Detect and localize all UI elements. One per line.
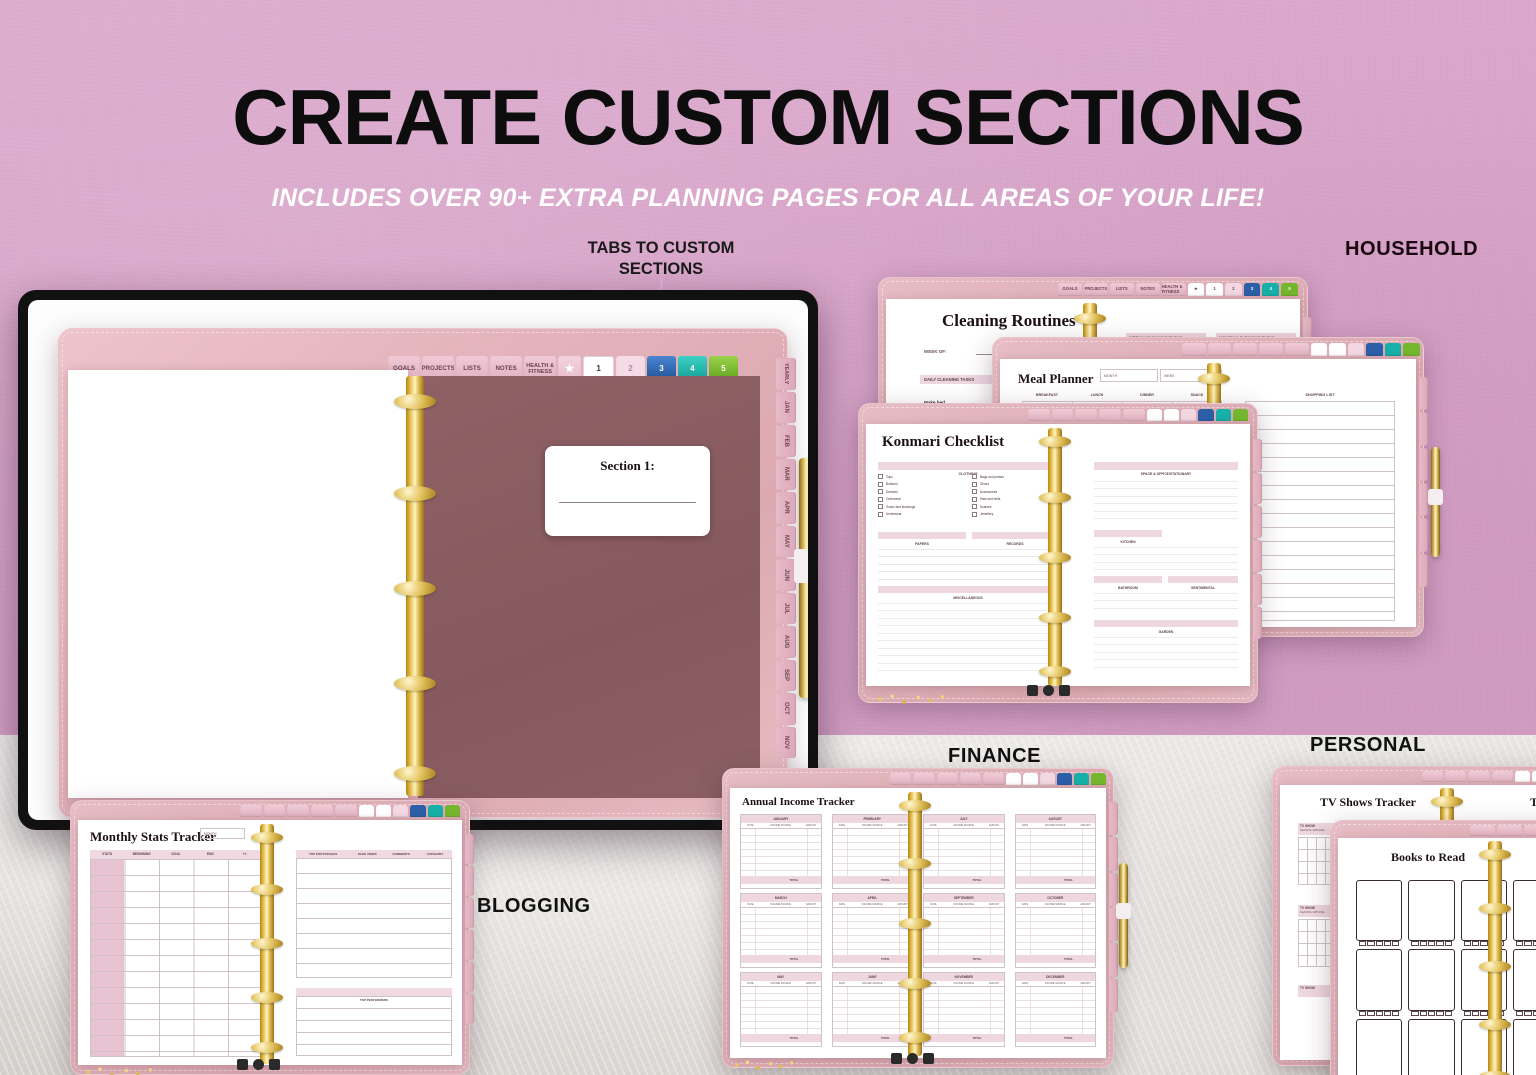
income-month-header: DECEMBER: [1016, 973, 1096, 981]
tab-5[interactable]: [445, 805, 460, 817]
vtab-jul[interactable]: JUL: [776, 593, 796, 625]
tv-show-label-1: TV SHOW SEASON / EPISODE: [1298, 823, 1334, 835]
konmari-checkrows-d[interactable]: [1094, 540, 1238, 570]
home-icon[interactable]: [253, 1059, 264, 1070]
income-rows[interactable]: [1016, 908, 1096, 955]
tab-health-fitness[interactable]: [335, 805, 357, 817]
konmari-checkrows-e[interactable]: [1094, 586, 1238, 614]
income-month-header: JUNE: [833, 973, 913, 981]
book-rating-stars[interactable]: [1359, 1011, 1399, 1016]
income-rows[interactable]: [833, 908, 913, 955]
tab-health-fitness[interactable]: HEALTH & FITNESS: [1162, 283, 1186, 296]
book-card[interactable]: [1408, 880, 1454, 941]
tab-goals[interactable]: GOALS: [1058, 283, 1082, 296]
glitter-decor: [80, 1065, 160, 1075]
tab-4[interactable]: 4: [1262, 283, 1279, 296]
stats-month-field[interactable]: MONTH: [200, 828, 245, 839]
stats-rcol-posts: TOP POSTS/PAGES: [296, 850, 350, 858]
tab-lists[interactable]: [1524, 825, 1536, 836]
tab-notes[interactable]: [960, 773, 981, 785]
tab-star[interactable]: [1311, 343, 1328, 356]
income-total-row: TOTAL: [741, 1034, 821, 1042]
tablet-frame: GOALS PROJECTS LISTS NOTES HEALTH & FITN…: [18, 290, 818, 830]
income-total-row: TOTAL: [833, 876, 913, 884]
tab-projects[interactable]: [1445, 771, 1466, 782]
page-subtitle: INCLUDES OVER 90+ EXTRA PLANNING PAGES F…: [0, 184, 1536, 213]
konmari-checkrows-f[interactable]: [1094, 630, 1238, 670]
konmari-group-header-misc: MISCELLANEOUS: [878, 586, 1058, 593]
stats-title: Monthly Stats Tracker: [90, 829, 216, 845]
income-month-header: MARCH: [741, 894, 821, 902]
income-month-block[interactable]: AUGUSTDATEINCOME SOURCEAMOUNTTOTAL: [1015, 814, 1097, 889]
tab-1[interactable]: [1532, 771, 1536, 782]
tab-goals[interactable]: [890, 773, 911, 785]
home-icon[interactable]: [907, 1053, 918, 1064]
tab-5[interactable]: [1091, 773, 1106, 785]
income-month-header: FEBRUARY: [833, 815, 913, 823]
tab-1[interactable]: [376, 805, 391, 817]
tab-3[interactable]: [1057, 773, 1072, 785]
income-month-block[interactable]: JANUARYDATEINCOME SOURCEAMOUNTTOTAL: [740, 814, 822, 889]
tab-1[interactable]: [1164, 409, 1179, 421]
vtab-apr[interactable]: APR: [776, 492, 796, 524]
section-card[interactable]: Section 1:: [545, 446, 710, 536]
income-rows[interactable]: [1016, 829, 1096, 876]
section-card-line: [559, 502, 696, 503]
income-title: Annual Income Tracker: [742, 796, 855, 808]
tab-star[interactable]: [1515, 771, 1530, 782]
tab-lists[interactable]: LISTS: [1110, 283, 1134, 296]
binder-rings: [1048, 428, 1062, 686]
glitter-decor: [730, 1058, 800, 1072]
stats-col-headers: STATS BEGINNING GOAL END +/-: [90, 850, 262, 859]
label-personal: PERSONAL: [1310, 734, 1426, 757]
planner-konmari[interactable]: Konmari Checklist CLOTHING Tops Bottoms …: [858, 403, 1258, 703]
tab-goals[interactable]: [1422, 771, 1443, 782]
label-finance: FINANCE: [948, 745, 1041, 768]
tab-goals[interactable]: [1182, 343, 1206, 356]
konmari-group-header: CLOTHING: [878, 462, 1058, 470]
tab-notes[interactable]: [1099, 409, 1121, 421]
income-total-row: TOTAL: [1016, 1034, 1096, 1042]
page-title: CREATE CUSTOM SECTIONS: [0, 72, 1536, 163]
tab-notes[interactable]: NOTES: [1136, 283, 1160, 296]
vtab-oct[interactable]: OCT: [776, 693, 796, 725]
list-icon[interactable]: [1027, 685, 1038, 696]
konmari-group-header-papers: PAPERS: [878, 532, 966, 539]
tabstrip-finance[interactable]: [890, 773, 1106, 785]
konmari-group-header-bathroom: BATHROOM: [1094, 576, 1162, 583]
tab-4[interactable]: [1385, 343, 1402, 356]
book-rating-stars[interactable]: [1411, 941, 1451, 946]
tab-5[interactable]: [1233, 409, 1248, 421]
tab-health-fitness[interactable]: [1285, 343, 1309, 356]
konmari-checkrows-c[interactable]: [1094, 474, 1238, 524]
tabstrip-books[interactable]: [1470, 825, 1536, 836]
income-month-header: OCTOBER: [1016, 894, 1096, 902]
home-icon[interactable]: [1043, 685, 1054, 696]
planner-blogging[interactable]: Monthly Stats Tracker MONTH STATS BEGINN…: [70, 800, 470, 1075]
planner-books-to-read[interactable]: Books to Read: [1330, 820, 1536, 1075]
shopping-list-header: SHOPPING LIST: [1245, 393, 1395, 397]
tab-projects[interactable]: [264, 805, 286, 817]
tabstrip-konmari[interactable]: [1028, 409, 1248, 421]
tab-1[interactable]: 1: [1206, 283, 1223, 296]
income-month-header: AUGUST: [1016, 815, 1096, 823]
book-rating-stars[interactable]: [1359, 941, 1399, 946]
tab-4[interactable]: [1074, 773, 1089, 785]
income-rows[interactable]: [741, 908, 821, 955]
settings-icon[interactable]: [269, 1059, 280, 1070]
tv-show-label-2: TV SHOW SEASON / EPISODE: [1298, 905, 1334, 917]
book-card[interactable]: [1408, 949, 1454, 1010]
list-icon[interactable]: [891, 1053, 902, 1064]
tab-star[interactable]: [1147, 409, 1162, 421]
income-rows[interactable]: [741, 829, 821, 876]
konmari-group-header-sentimental: SENTIMENTAL: [1168, 576, 1238, 583]
binder-rings: [260, 824, 274, 1064]
book-card[interactable]: [1513, 880, 1536, 941]
tab-lists[interactable]: [1075, 409, 1097, 421]
book-card[interactable]: [1513, 949, 1536, 1010]
tab-projects[interactable]: [1497, 825, 1522, 836]
income-month-block[interactable]: APRILDATEINCOME SOURCEAMOUNTTOTAL: [832, 893, 914, 968]
tab-notes[interactable]: [1492, 771, 1513, 782]
list-icon[interactable]: [237, 1059, 248, 1070]
tab-star[interactable]: [1006, 773, 1021, 785]
stats-col-end: END: [193, 850, 227, 859]
tab-3[interactable]: [1366, 343, 1383, 356]
income-month-block[interactable]: SEPTEMBERDATEINCOME SOURCEAMOUNTTOTAL: [923, 893, 1005, 968]
income-rows[interactable]: [924, 908, 1004, 955]
stats-col-goal: GOAL: [159, 850, 193, 859]
income-total-row: TOTAL: [741, 876, 821, 884]
label-blogging: BLOGGING: [477, 895, 591, 918]
tab-3[interactable]: [1198, 409, 1213, 421]
tv-episode-grid-1[interactable]: [1298, 837, 1334, 885]
income-rows[interactable]: [924, 829, 1004, 876]
vtabs-konmari[interactable]: [1253, 439, 1262, 639]
vtab-jun[interactable]: JUN: [776, 559, 796, 591]
tab-star[interactable]: [359, 805, 374, 817]
book-rating-stars[interactable]: [1411, 1011, 1451, 1016]
tab-projects[interactable]: [913, 773, 934, 785]
income-total-row: TOTAL: [924, 876, 1004, 884]
income-total-row: TOTAL: [833, 955, 913, 963]
tab-5[interactable]: 5: [1281, 283, 1298, 296]
stats-col-stats: STATS: [90, 850, 124, 859]
vtab-yearly[interactable]: YEARLY: [776, 358, 796, 390]
tab-goals[interactable]: [1470, 825, 1495, 836]
meal-field-week-label: WEEK: [1164, 374, 1175, 378]
konmari-checkrows-b[interactable]: [878, 596, 1058, 676]
tab-1[interactable]: [1023, 773, 1038, 785]
meal-title-left: Meal Planner: [1018, 371, 1093, 387]
vtab-nov[interactable]: NOV: [776, 727, 796, 759]
stylus-pen[interactable]: [1119, 863, 1128, 968]
book-rating-stars[interactable]: [1516, 941, 1536, 946]
daily-header-text: DAILY CLEANING TASKS: [924, 377, 974, 382]
tab-3[interactable]: 3: [1244, 283, 1261, 296]
tv-episode-grid-2[interactable]: [1298, 919, 1334, 967]
income-rows[interactable]: [833, 829, 913, 876]
tab-2[interactable]: 2: [1225, 283, 1242, 296]
week-of-label: WEEK OF:: [924, 349, 947, 354]
meal-col-breakfast: BREAKFAST: [1022, 393, 1072, 397]
binder-rings: [1488, 841, 1502, 1075]
left-page-blank[interactable]: [68, 370, 408, 798]
tab-2[interactable]: [1348, 343, 1365, 356]
tab-lists[interactable]: [1233, 343, 1257, 356]
book-card[interactable]: [1513, 1019, 1536, 1075]
binder-rings: [406, 376, 424, 796]
income-month-block[interactable]: JULYDATEINCOME SOURCEAMOUNTTOTAL: [923, 814, 1005, 889]
right-page-section[interactable]: Section 1:: [418, 376, 760, 798]
tab-1[interactable]: [1329, 343, 1346, 356]
konmari-group-header-kitchen: KITCHEN: [1094, 530, 1162, 537]
vtab-aug[interactable]: AUG: [776, 626, 796, 658]
tab-notes[interactable]: [1259, 343, 1283, 356]
stats-month-label: MONTH: [204, 832, 216, 836]
income-total-row: TOTAL: [1016, 876, 1096, 884]
income-month-header: APRIL: [833, 894, 913, 902]
meal-field-month[interactable]: MONTH: [1100, 369, 1158, 382]
tab-star[interactable]: ★: [1188, 283, 1205, 296]
section-card-title: Section 1:: [545, 458, 710, 474]
income-month-block[interactable]: MARCHDATEINCOME SOURCEAMOUNTTOTAL: [740, 893, 822, 968]
bottom-bar-finance[interactable]: [882, 1052, 942, 1065]
tv-show-label-3: TV SHOW: [1298, 985, 1334, 997]
settings-icon[interactable]: [1059, 685, 1070, 696]
stats-rcol-category: CATEGORY: [418, 850, 452, 858]
income-month-header: SEPTEMBER: [924, 894, 1004, 902]
tablet-screen: GOALS PROJECTS LISTS NOTES HEALTH & FITN…: [28, 300, 808, 820]
income-month-block[interactable]: OCTOBERDATEINCOME SOURCEAMOUNTTOTAL: [1015, 893, 1097, 968]
vtabs-blogging[interactable]: [465, 834, 474, 1024]
tab-goals[interactable]: [240, 805, 262, 817]
vtab-sep[interactable]: SEP: [776, 660, 796, 692]
binder-rings: [908, 792, 922, 1056]
vtabs-months[interactable]: YEARLY JAN FEB MAR APR MAY JUN JUL AUG S…: [776, 358, 796, 758]
book-card[interactable]: [1408, 1019, 1454, 1075]
tab-3[interactable]: [410, 805, 425, 817]
income-month-header: MAY: [741, 973, 821, 981]
tab-4[interactable]: [428, 805, 443, 817]
vtab-may[interactable]: MAY: [776, 526, 796, 558]
tab-2[interactable]: [393, 805, 408, 817]
stats-col-delta: +/-: [228, 850, 262, 859]
income-month-block[interactable]: NOVEMBERDATEINCOME SOURCEAMOUNTTOTAL: [923, 972, 1005, 1047]
stats-right-headers: TOP POSTS/PAGES PAGE VIEWS COMMENTS CATE…: [296, 850, 452, 858]
planner-finance[interactable]: Annual Income Tracker JANUARYDATEINCOME …: [722, 768, 1114, 1068]
tab-notes[interactable]: [311, 805, 333, 817]
income-month-header: NOVEMBER: [924, 973, 1004, 981]
book-card[interactable]: [1356, 1019, 1402, 1075]
income-total-row: TOTAL: [924, 955, 1004, 963]
tabstrip-blogging[interactable]: [240, 805, 460, 817]
income-rows[interactable]: [833, 987, 913, 1034]
stats-grid[interactable]: [90, 859, 262, 1057]
tab-health-fitness[interactable]: [1123, 409, 1145, 421]
income-month-block[interactable]: FEBRUARYDATEINCOME SOURCEAMOUNTTOTAL: [832, 814, 914, 889]
vtabs-meal[interactable]: [1419, 377, 1428, 587]
stylus-pen[interactable]: [799, 458, 808, 698]
income-month-block[interactable]: DECEMBERDATEINCOME SOURCEAMOUNTTOTAL: [1015, 972, 1097, 1047]
tv-title: TV Shows Tracker: [1320, 795, 1416, 810]
stats-notes-grid[interactable]: [296, 996, 452, 1056]
vtab-mar[interactable]: MAR: [776, 459, 796, 491]
stats-rcol-views: PAGE VIEWS: [350, 850, 384, 858]
konmari-items-clothing[interactable]: Tops Bottoms Dresses Outerwear Socks and…: [878, 474, 1058, 517]
stats-notes-header: TOP PERFORMERS: [296, 988, 452, 996]
tab-2[interactable]: [1181, 409, 1196, 421]
tab-goals[interactable]: [1028, 409, 1050, 421]
callout-line2: SECTIONS: [556, 259, 766, 280]
tab-projects[interactable]: [1052, 409, 1074, 421]
tab-5[interactable]: [1403, 343, 1420, 356]
book-card[interactable]: [1356, 880, 1402, 941]
shopping-grid[interactable]: [1245, 401, 1395, 621]
tabstrip-cleaning[interactable]: GOALS PROJECTS LISTS NOTES HEALTH & FITN…: [1058, 283, 1298, 296]
bottom-bar-blogging[interactable]: [228, 1058, 288, 1071]
book-rating-stars[interactable]: [1516, 1011, 1536, 1016]
konmari-checkrows-a[interactable]: [878, 542, 1058, 580]
income-month-block[interactable]: MAYDATEINCOME SOURCEAMOUNTTOTAL: [740, 972, 822, 1047]
income-month-header: JULY: [924, 815, 1004, 823]
stats-col-beginning: BEGINNING: [124, 850, 158, 859]
bottom-bar-household[interactable]: [1018, 683, 1078, 697]
tab-projects[interactable]: PROJECTS: [1084, 283, 1108, 296]
meal-col-lunch: LUNCH: [1072, 393, 1122, 397]
konmari-group-header-garden: GARDEN: [1094, 620, 1238, 627]
cleaning-title: Cleaning Routines: [942, 311, 1076, 331]
income-total-row: TOTAL: [741, 955, 821, 963]
tab-projects[interactable]: [1208, 343, 1232, 356]
tab-lists[interactable]: [937, 773, 958, 785]
tab-lists[interactable]: [287, 805, 309, 817]
callout-tabs-to-custom-sections: TABS TO CUSTOM SECTIONS: [556, 238, 766, 279]
books-page: Books to Read: [1338, 838, 1536, 1075]
meal-field-month-label: MONTH: [1104, 374, 1117, 378]
tab-health-fitness[interactable]: [983, 773, 1004, 785]
income-month-header: JANUARY: [741, 815, 821, 823]
tab-2[interactable]: [1040, 773, 1055, 785]
konmari-group-header-records: RECORDS: [972, 532, 1058, 539]
tv-title-right: TV: [1530, 795, 1536, 810]
meal-col-dinner: DINNER: [1122, 393, 1172, 397]
stats-rcol-comments: COMMENTS: [384, 850, 418, 858]
stylus-pen[interactable]: [1431, 447, 1440, 557]
tab-4[interactable]: [1216, 409, 1231, 421]
book-card[interactable]: [1356, 949, 1402, 1010]
konmari-title: Konmari Checklist: [882, 434, 1004, 451]
meal-columns: BREAKFAST LUNCH DINNER SNACK: [1022, 393, 1222, 397]
income-rows[interactable]: [924, 987, 1004, 1034]
income-rows[interactable]: [741, 987, 821, 1034]
tabstrip-tv[interactable]: [1422, 771, 1536, 782]
tab-lists[interactable]: [1468, 771, 1489, 782]
income-total-row: TOTAL: [924, 1034, 1004, 1042]
stats-right-grid[interactable]: [296, 858, 452, 978]
income-rows[interactable]: [1016, 987, 1096, 1034]
label-household: HOUSEHOLD: [1345, 238, 1478, 261]
settings-icon[interactable]: [923, 1053, 934, 1064]
glitter-decor: [872, 692, 952, 706]
vtab-feb[interactable]: FEB: [776, 425, 796, 457]
konmari-group-header-space: SPACE & OFFICE/STATIONARY: [1094, 462, 1238, 470]
callout-line1: TABS TO CUSTOM: [556, 238, 766, 259]
planner-main[interactable]: GOALS PROJECTS LISTS NOTES HEALTH & FITN…: [58, 328, 788, 818]
vtab-jan[interactable]: JAN: [776, 392, 796, 424]
income-total-row: TOTAL: [1016, 955, 1096, 963]
tabstrip-meal[interactable]: [1182, 343, 1420, 356]
